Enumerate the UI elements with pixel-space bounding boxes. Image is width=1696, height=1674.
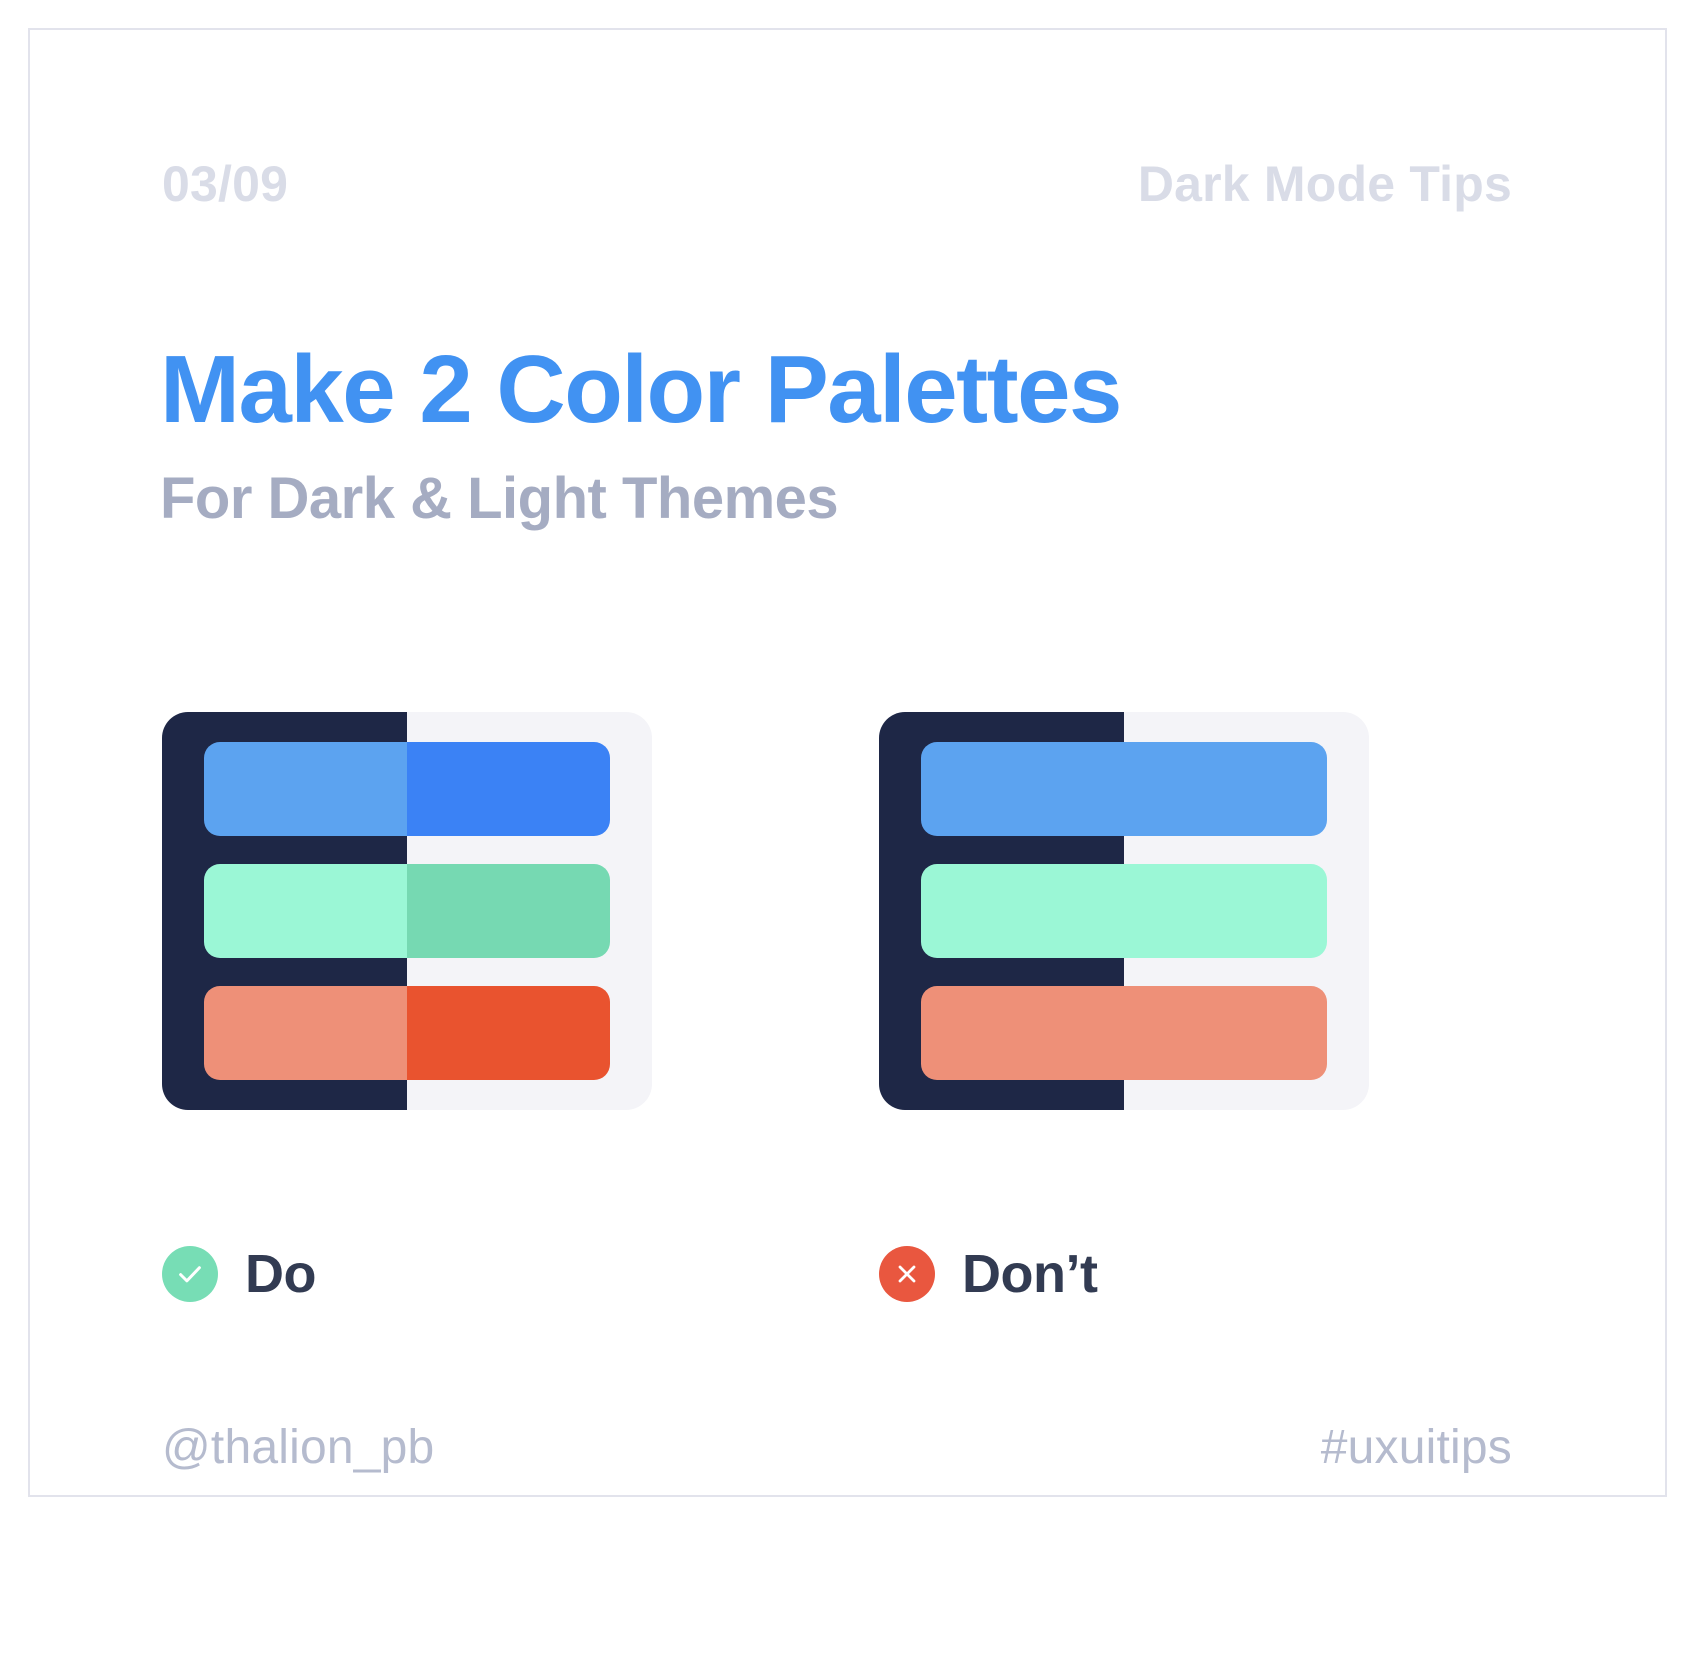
close-icon xyxy=(879,1246,935,1302)
swatch-dark-half xyxy=(204,986,407,1080)
swatch-light-half xyxy=(407,864,610,958)
footer: @thalion_pb #uxuitips xyxy=(162,1420,1512,1475)
swatch-dark-half xyxy=(921,986,1124,1080)
verdict-do: Do xyxy=(162,1243,316,1305)
swatch-light-half xyxy=(1124,742,1327,836)
header: 03/09 Dark Mode Tips xyxy=(162,155,1512,213)
series-kicker: Dark Mode Tips xyxy=(1138,155,1512,213)
swatch-stack-dont xyxy=(921,712,1327,1110)
verdict-row: Do Don’t xyxy=(30,1243,1665,1323)
swatch-light-half xyxy=(407,742,610,836)
swatch-dark-half xyxy=(921,864,1124,958)
verdict-label-do: Do xyxy=(245,1243,316,1305)
swatch-row xyxy=(921,864,1327,958)
slide-frame: 03/09 Dark Mode Tips Make 2 Color Palett… xyxy=(28,28,1667,1497)
page-counter: 03/09 xyxy=(162,155,288,213)
swatch-dark-half xyxy=(921,742,1124,836)
verdict-dont: Don’t xyxy=(879,1243,1097,1305)
author-handle: @thalion_pb xyxy=(162,1420,434,1475)
swatch-row xyxy=(921,986,1327,1080)
swatch-stack-do xyxy=(204,712,610,1110)
check-icon xyxy=(162,1246,218,1302)
palette-card-dont xyxy=(879,712,1369,1110)
hashtag: #uxuitips xyxy=(1321,1420,1512,1475)
title-block: Make 2 Color Palettes For Dark & Light T… xyxy=(160,342,1460,528)
swatch-row xyxy=(204,742,610,836)
verdict-label-dont: Don’t xyxy=(962,1243,1097,1305)
palette-cards xyxy=(30,712,1665,1112)
swatch-dark-half xyxy=(204,864,407,958)
swatch-light-half xyxy=(407,986,610,1080)
page-subtitle: For Dark & Light Themes xyxy=(160,470,1460,528)
swatch-row xyxy=(204,986,610,1080)
swatch-dark-half xyxy=(204,742,407,836)
swatch-row xyxy=(204,864,610,958)
swatch-row xyxy=(921,742,1327,836)
page-title: Make 2 Color Palettes xyxy=(160,342,1460,438)
swatch-light-half xyxy=(1124,864,1327,958)
palette-card-do xyxy=(162,712,652,1110)
swatch-light-half xyxy=(1124,986,1327,1080)
